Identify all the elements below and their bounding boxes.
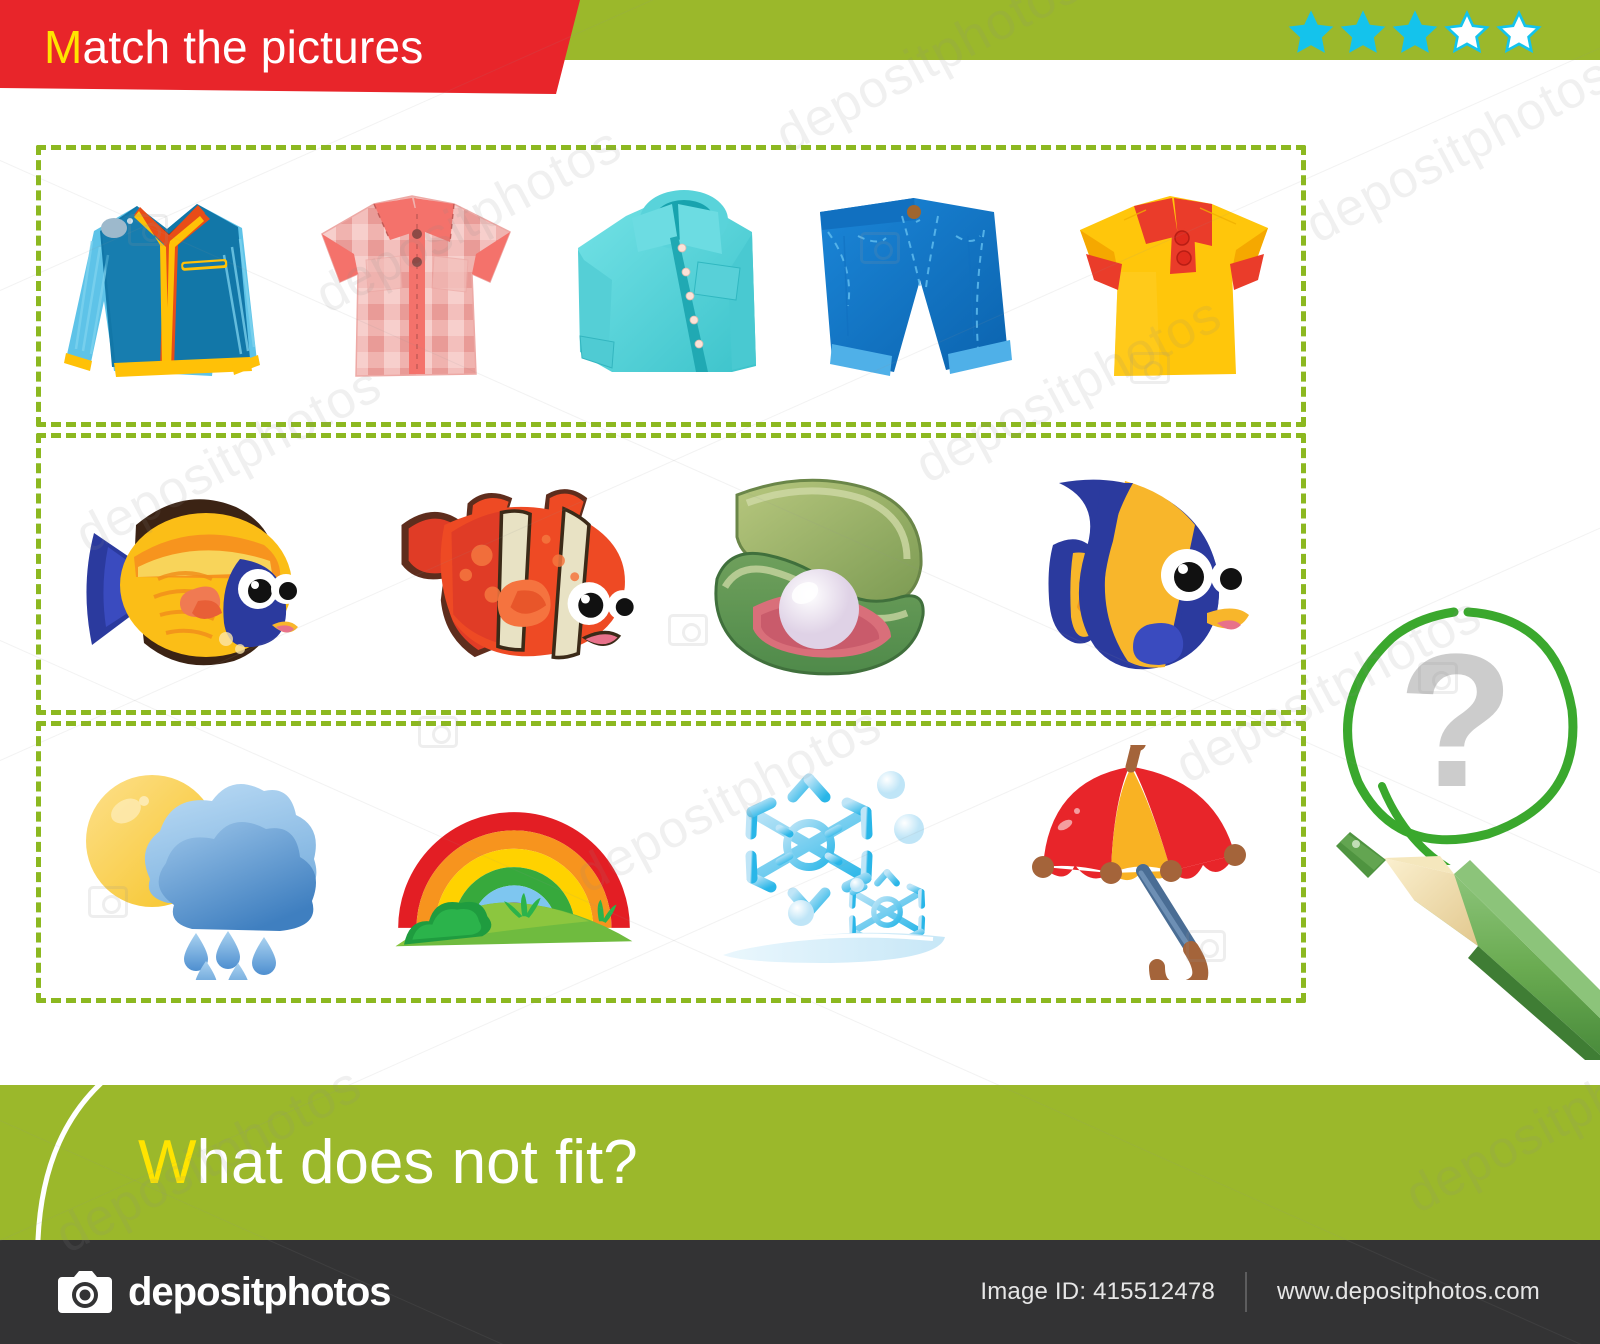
answer-area: ? [1310, 110, 1600, 1060]
umbrella-icon [1019, 745, 1269, 980]
plaid-shirt-icon [304, 176, 534, 396]
item-clownfish[interactable] [389, 449, 639, 699]
item-snowflakes[interactable] [704, 737, 954, 987]
item-plaid-shirt[interactable] [294, 161, 544, 411]
title-first-letter: M [44, 21, 83, 73]
item-button-shirt[interactable] [546, 161, 796, 411]
page-title: Match the pictures [44, 24, 423, 70]
star-filled-icon [1392, 10, 1438, 56]
green-pencil-icon [1328, 830, 1600, 1060]
worksheet-page: Match the pictures [0, 0, 1600, 1344]
jeans-icon [798, 176, 1048, 396]
oyster-pearl-icon [709, 467, 949, 682]
prompt-rest: hat does not fit? [197, 1128, 638, 1197]
title-rest: atch the pictures [83, 21, 424, 73]
footer-divider [1245, 1272, 1247, 1312]
star-filled-icon [1288, 10, 1334, 56]
button-shirt-icon [556, 176, 786, 396]
answer-circle[interactable]: ? [1320, 590, 1590, 865]
item-angelfish[interactable] [1019, 449, 1269, 699]
item-jeans[interactable] [798, 161, 1048, 411]
star-filled-icon [1340, 10, 1386, 56]
depositphotos-logo[interactable]: depositphotos [56, 1263, 391, 1321]
logo-text: depositphotos [128, 1270, 391, 1315]
cardigan-icon [42, 171, 292, 401]
camera-icon [56, 1263, 114, 1321]
difficulty-rating [1288, 10, 1542, 56]
sun-rain-cloud-icon [74, 745, 324, 980]
angelfish-icon [1029, 467, 1259, 682]
item-oyster-pearl[interactable] [704, 449, 954, 699]
item-polo-shirt[interactable] [1050, 161, 1300, 411]
prompt-band: What does not fit? [0, 1085, 1600, 1240]
clownfish-icon [389, 467, 639, 682]
footer-meta: Image ID: 415512478 www.depositphotos.co… [980, 1272, 1540, 1312]
item-butterflyfish[interactable] [74, 449, 324, 699]
item-sun-rain-cloud[interactable] [74, 737, 324, 987]
question-mark: ? [1398, 615, 1514, 827]
rainbow-icon [389, 755, 639, 970]
website-url[interactable]: www.depositphotos.com [1277, 1278, 1540, 1306]
puzzle-row-clothes [36, 145, 1306, 427]
footer-bar: depositphotos Image ID: 415512478 www.de… [0, 1240, 1600, 1344]
polo-shirt-icon [1060, 176, 1290, 396]
butterflyfish-icon [74, 467, 324, 682]
puzzle-row-weather [36, 721, 1306, 1003]
title-banner: Match the pictures [0, 0, 580, 94]
prompt-first-letter: W [138, 1128, 197, 1197]
item-cardigan[interactable] [42, 161, 292, 411]
item-rainbow[interactable] [389, 737, 639, 987]
image-id: Image ID: 415512478 [980, 1278, 1215, 1306]
star-empty-icon [1496, 10, 1542, 56]
snowflakes-icon [709, 747, 949, 977]
item-umbrella[interactable] [1019, 737, 1269, 987]
star-empty-icon [1444, 10, 1490, 56]
puzzle-row-sea-life [36, 433, 1306, 715]
prompt-question: What does not fit? [138, 1132, 638, 1194]
